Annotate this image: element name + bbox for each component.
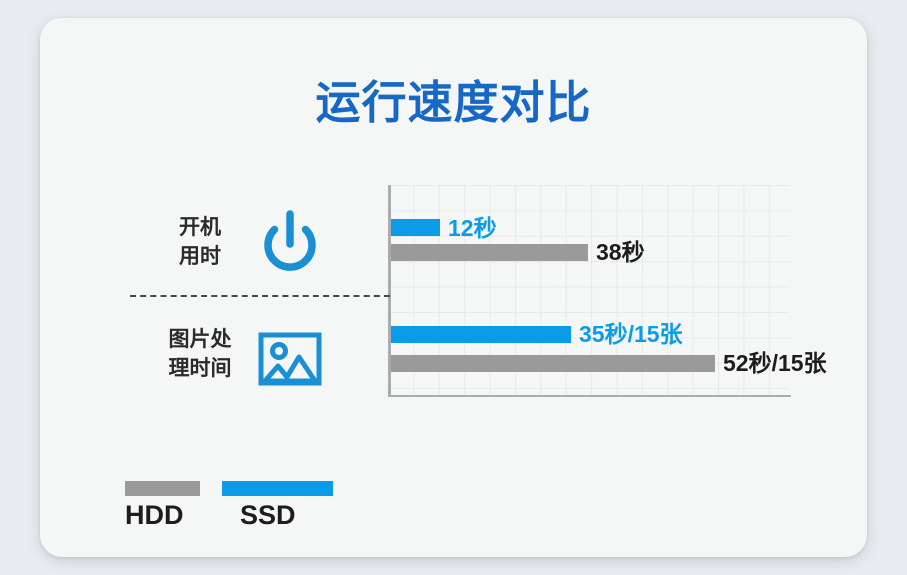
power-icon: [252, 206, 328, 282]
category-label-line-1: 图片处: [140, 326, 260, 355]
bar-value-hdd-image-processing: 52秒/15张: [723, 352, 827, 375]
category-label-line-2: 用时: [140, 243, 260, 272]
legend-swatch-ssd: [222, 481, 333, 496]
legend-label-hdd: HDD: [125, 500, 184, 531]
comparison-card: 运行速度对比 开机 用时 12秒 38秒 图片处 理时间 35秒/15张 52秒…: [40, 18, 867, 557]
chart-x-axis: [388, 395, 791, 397]
bar-ssd-image-processing: [391, 326, 571, 343]
page-title: 运行速度对比: [40, 66, 867, 131]
legend-swatch-hdd: [125, 481, 200, 496]
legend-label-ssd: SSD: [240, 500, 296, 531]
bar-hdd-boot-time: [391, 244, 588, 261]
bar-value-hdd-boot-time: 38秒: [596, 241, 645, 264]
bar-hdd-image-processing: [391, 355, 715, 372]
image-icon: [252, 321, 328, 397]
bar-value-ssd-image-processing: 35秒/15张: [579, 323, 683, 346]
category-label-line-2: 理时间: [140, 355, 260, 384]
category-label-image-processing-time: 图片处 理时间: [140, 326, 260, 384]
bar-value-ssd-boot-time: 12秒: [448, 217, 497, 240]
category-label-line-1: 开机: [140, 214, 260, 243]
bar-ssd-boot-time: [391, 219, 440, 236]
row-divider: [130, 295, 390, 297]
category-label-boot-time: 开机 用时: [140, 214, 260, 272]
